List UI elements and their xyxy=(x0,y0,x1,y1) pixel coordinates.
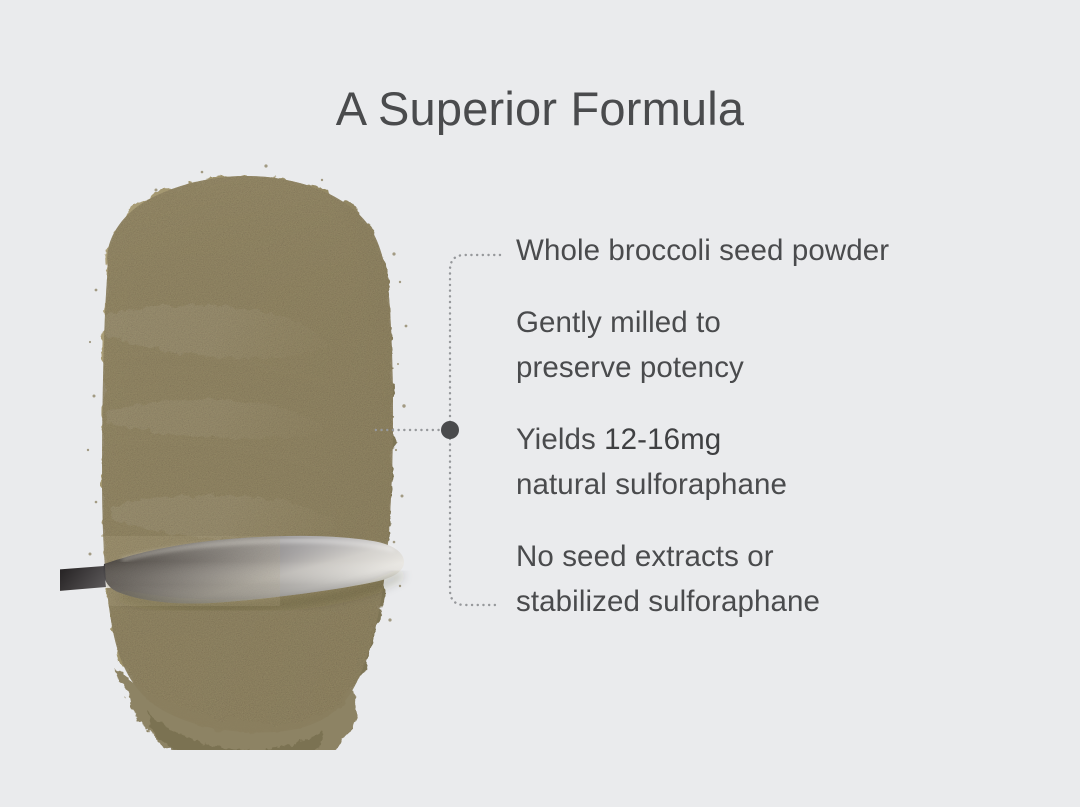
infographic-canvas: A Superior Formula xyxy=(0,0,1080,807)
feature-item-no-seed-extracts: No seed extracts or stabilized sulforaph… xyxy=(516,534,1056,624)
feature-emphasis-dose: 12-16mg xyxy=(604,423,721,456)
feature-line: Whole broccoli seed powder xyxy=(516,228,1056,273)
connector-spine xyxy=(450,255,500,605)
product-photo xyxy=(60,150,420,750)
feature-line: stabilized sulforaphane xyxy=(516,579,1056,624)
connector-dot xyxy=(441,421,459,439)
feature-line: natural sulforaphane xyxy=(516,462,1056,507)
feature-line: No seed extracts or xyxy=(516,534,1056,579)
broccoli-seed-powder-image xyxy=(60,150,420,750)
feature-item-whole-broccoli-seed-powder: Whole broccoli seed powder xyxy=(516,228,1056,273)
feature-text: Yields xyxy=(516,423,604,456)
feature-line: Yields 12-16mg xyxy=(516,417,1056,462)
feature-line: Gently milled to xyxy=(516,300,1056,345)
feature-item-yields-sulforaphane: Yields 12-16mg natural sulforaphane xyxy=(516,417,1056,507)
feature-item-gently-milled: Gently milled to preserve potency xyxy=(516,300,1056,390)
page-title: A Superior Formula xyxy=(0,82,1080,136)
feature-line: preserve potency xyxy=(516,345,1056,390)
powder-mass xyxy=(60,150,420,750)
feature-list: Whole broccoli seed powder Gently milled… xyxy=(516,228,1056,624)
